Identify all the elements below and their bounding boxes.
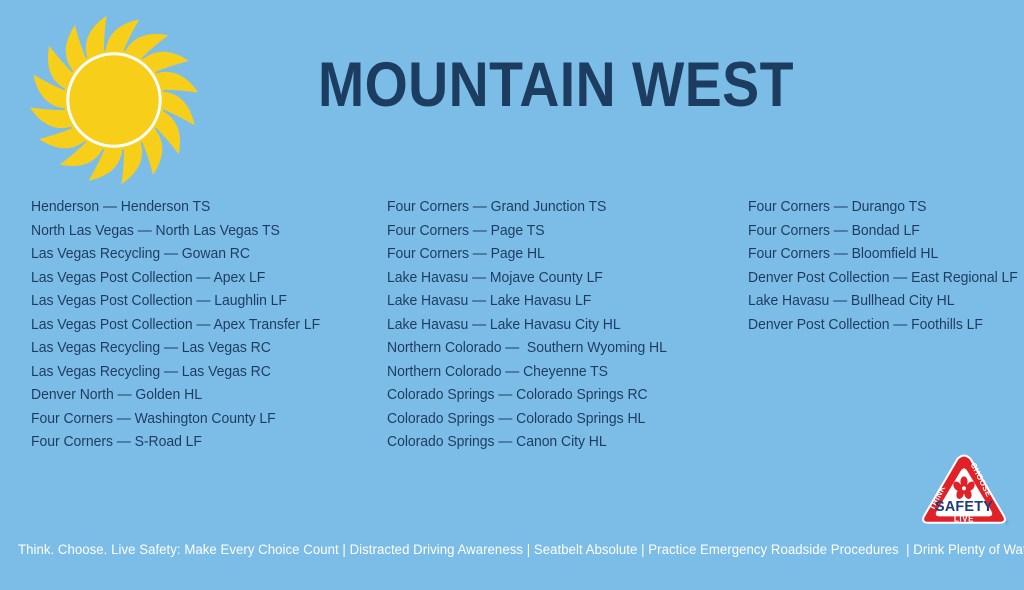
list-item: Four Corners — Page TS <box>387 220 723 244</box>
list-item: Four Corners — Bondad LF <box>748 220 1013 244</box>
list-item: Four Corners — Bloomfield HL <box>748 243 1013 267</box>
list-item: Las Vegas Recycling — Gowan RC <box>31 243 367 267</box>
list-item: Las Vegas Post Collection — Apex Transfe… <box>31 314 367 338</box>
registered-trademark-icon: ® <box>1005 519 1009 526</box>
list-item: Las Vegas Recycling — Las Vegas RC <box>31 361 367 385</box>
list-item: Colorado Springs — Colorado Springs RC <box>387 384 723 408</box>
list-item: Lake Havasu — Bullhead City HL <box>748 290 1013 314</box>
list-item: Four Corners — Washington County LF <box>31 408 367 432</box>
site-list-column-1: Henderson — Henderson TSNorth Las Vegas … <box>31 196 381 455</box>
footer-safety-message: Think. Choose. Live Safety: Make Every C… <box>18 542 1024 558</box>
list-item: Lake Havasu — Mojave County LF <box>387 267 723 291</box>
list-item: Las Vegas Post Collection — Apex LF <box>31 267 367 291</box>
list-item: Northern Colorado — Southern Wyoming HL <box>387 337 723 361</box>
list-item: Four Corners — S-Road LF <box>31 431 367 455</box>
list-item: North Las Vegas — North Las Vegas TS <box>31 220 367 244</box>
list-item: Las Vegas Recycling — Las Vegas RC <box>31 337 367 361</box>
list-item: Colorado Springs — Colorado Springs HL <box>387 408 723 432</box>
list-item: Denver Post Collection — East Regional L… <box>748 267 1013 291</box>
safety-word-label: SAFETY <box>935 499 993 515</box>
page-title: MOUNTAIN WEST <box>318 54 794 117</box>
list-item: Northern Colorado — Cheyenne TS <box>387 361 723 385</box>
site-list-column-3: Four Corners — Durango TSFour Corners — … <box>748 196 1024 337</box>
list-item: Denver Post Collection — Foothills LF <box>748 314 1013 338</box>
site-list-column-2: Four Corners — Grand Junction TSFour Cor… <box>387 196 737 455</box>
sun-icon <box>26 12 202 188</box>
list-item: Colorado Springs — Canon City HL <box>387 431 723 455</box>
list-item: Lake Havasu — Lake Havasu City HL <box>387 314 723 338</box>
list-item: Four Corners — Grand Junction TS <box>387 196 723 220</box>
list-item: Henderson — Henderson TS <box>31 196 367 220</box>
list-item: Lake Havasu — Lake Havasu LF <box>387 290 723 314</box>
list-item: Las Vegas Post Collection — Laughlin LF <box>31 290 367 314</box>
slide-canvas: MOUNTAIN WEST Henderson — Henderson TSNo… <box>0 0 1024 590</box>
safety-live-label: LIVE <box>954 515 974 524</box>
list-item: Denver North — Golden HL <box>31 384 367 408</box>
think-choose-live-safety-logo: THINK CHOOSE SAFETY LIVE ® <box>916 450 1012 526</box>
list-item: Four Corners — Page HL <box>387 243 723 267</box>
list-item: Four Corners — Durango TS <box>748 196 1013 220</box>
